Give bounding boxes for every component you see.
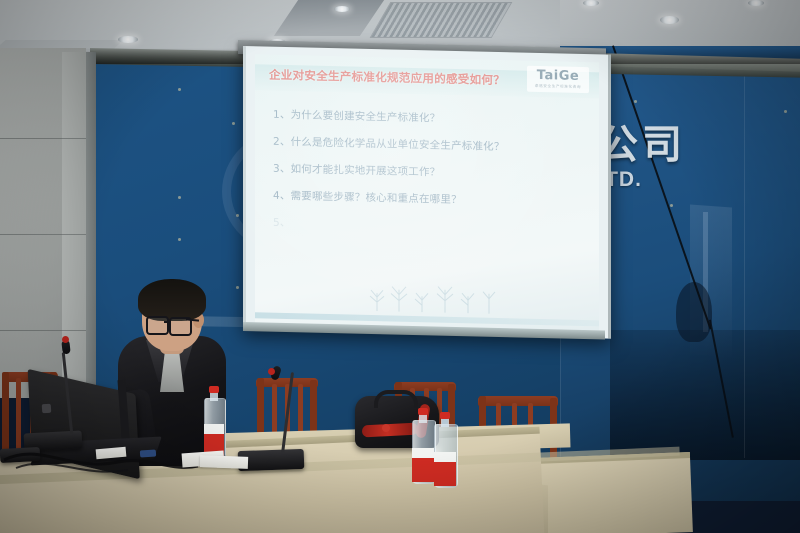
ceiling-slab <box>560 0 800 46</box>
wall-panel-seam <box>0 138 86 139</box>
slide-line: 1、为什么要创建安全生产标准化？ <box>273 107 585 129</box>
air-conditioning-vent <box>370 2 513 38</box>
presenter-hair <box>138 279 206 321</box>
ceiling-downlight-icon <box>118 36 138 43</box>
backpack-logo-icon <box>382 424 390 432</box>
backpack-handle <box>374 390 418 408</box>
ceiling-downlight-icon <box>583 0 599 6</box>
wall-bolt <box>178 88 181 91</box>
wall-bolt <box>178 196 181 199</box>
microphone-tip-icon <box>62 336 69 343</box>
wall-bolt <box>178 238 181 241</box>
wall-bolt <box>634 100 637 103</box>
water-bottle <box>434 412 456 488</box>
microphone-tip-icon <box>268 368 275 375</box>
presentation-slide: TaiGe 泰格安全生产标准化咨询 企业对安全生产标准化规范应用的感受如何？ 1… <box>255 54 599 330</box>
projection-screen: TaiGe 泰格安全生产标准化咨询 企业对安全生产标准化规范应用的感受如何？ 1… <box>243 46 611 339</box>
slide-line: 3、如何才能扎实地开展这项工作？ <box>273 161 585 183</box>
slide-line: 4、需要哪些步骤？核心和重点在哪里？ <box>273 188 585 210</box>
ceiling-downlight-icon <box>334 6 350 12</box>
blue-desk-object <box>140 449 156 457</box>
slide-line: 2、什么是危险化学品从业单位安全生产标准化？ <box>273 134 585 156</box>
wall-bolt <box>670 204 673 207</box>
wall-panel-seam <box>0 330 86 331</box>
wall-bolt <box>784 110 787 113</box>
slide-grass-decoration <box>367 281 502 314</box>
slide-line: 5、 <box>273 215 585 237</box>
laptop-logo-icon <box>42 404 52 414</box>
wall-bolt <box>232 122 235 125</box>
slide-bullet-list: 1、为什么要创建安全生产标准化？ 2、什么是危险化学品从业单位安全生产标准化？ … <box>273 107 585 249</box>
ceiling-downlight-icon <box>660 16 679 24</box>
paper-sheet <box>200 455 248 469</box>
slide-logo: TaiGe 泰格安全生产标准化咨询 <box>527 66 589 93</box>
ceiling-downlight-icon <box>748 0 764 6</box>
wall-company-name-cn: 公司 <box>598 112 686 170</box>
wall-panel-seam <box>744 58 745 458</box>
wall-bolt <box>236 286 239 289</box>
slide-logo-subtitle: 泰格安全生产标准化咨询 <box>535 84 581 90</box>
eyeglasses-lens-left <box>146 316 169 335</box>
wall-pillar-edge <box>86 52 96 400</box>
water-bottle <box>412 408 434 484</box>
wall-panel-seam <box>0 234 86 235</box>
dark-equipment <box>676 282 712 342</box>
conference-room-photo: 公司 ,LTD. TaiGe 泰格安全生产标准化咨询 企业对安全生产标准化规范应… <box>0 0 800 533</box>
slide-logo-text: TaiGe <box>537 69 579 83</box>
eyeglasses-bridge <box>164 321 171 323</box>
water-bottle <box>204 386 224 460</box>
